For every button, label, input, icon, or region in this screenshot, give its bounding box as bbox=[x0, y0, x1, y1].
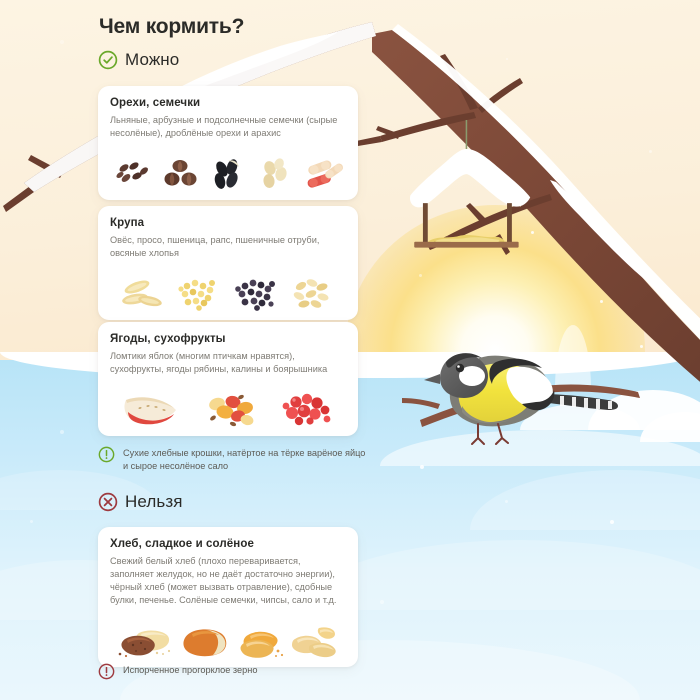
note-forbidden-text: Испорченное прогорклое зерно bbox=[123, 663, 257, 677]
sunflower-seeds-icon bbox=[208, 158, 248, 192]
feeder-roof-snow bbox=[410, 149, 530, 207]
note-forbidden-extra: Испорченное прогорклое зерно bbox=[98, 663, 257, 680]
page-title: Чем кормить? bbox=[99, 15, 244, 39]
great-tit-bird bbox=[432, 332, 652, 467]
infographic-stage: Чем кормить? Можно Орехи, семечки Льняны… bbox=[0, 0, 700, 700]
dried-fruits-icon bbox=[203, 392, 259, 428]
feeder-post-right bbox=[507, 203, 512, 246]
bird-tail-stripe-4 bbox=[596, 399, 600, 409]
card-nuts-text: Льняные, арбузные и подсолнечные семечки… bbox=[110, 114, 346, 140]
card-nuts-title: Орехи, семечки bbox=[110, 97, 346, 109]
card-grain-title: Крупа bbox=[110, 217, 346, 229]
bread-loaf-icon bbox=[178, 625, 230, 659]
card-berries-text: Ломтики яблок (многим птичкам нравятся),… bbox=[110, 350, 346, 376]
cracked-nuts-icon bbox=[161, 158, 201, 192]
card-berries-title: Ягоды, сухофрукты bbox=[110, 333, 346, 345]
cross-circle-icon bbox=[98, 492, 118, 512]
bird-tail-stripe-5 bbox=[608, 401, 612, 409]
card-grain-icon-row bbox=[110, 266, 346, 312]
content-column: Чем кормить? Можно Орехи, семечки Льняны… bbox=[0, 0, 370, 700]
feeder-floor bbox=[414, 242, 518, 248]
card-bread-title: Хлеб, сладкое и солёное bbox=[110, 538, 346, 550]
rowan-berries-icon bbox=[280, 392, 336, 428]
note-allowed-text: Сухие хлебные крошки, натёртое на тёрке … bbox=[123, 446, 370, 474]
apple-slice-icon bbox=[120, 392, 182, 428]
section-label-forbidden: Нельзя bbox=[125, 492, 183, 512]
bird-tail-stripe-2 bbox=[572, 397, 576, 407]
bird-leg-front bbox=[472, 424, 484, 444]
section-label-allowed: Можно bbox=[125, 50, 179, 70]
card-grain-text: Овёс, просо, пшеница, рапс, пшеничные от… bbox=[110, 234, 346, 260]
rapeseed-icon bbox=[233, 276, 279, 312]
cookies-icon bbox=[236, 625, 284, 659]
card-bread: Хлеб, сладкое и солёное Свежий белый хле… bbox=[98, 527, 358, 667]
bread-slices-icon bbox=[117, 625, 173, 659]
bird-eye bbox=[456, 364, 464, 372]
section-header-allowed: Можно bbox=[98, 50, 179, 70]
check-circle-icon bbox=[98, 50, 118, 70]
feeder-post-left bbox=[423, 203, 428, 246]
card-berries-icon-row bbox=[110, 382, 346, 428]
wheat-grains-icon bbox=[290, 276, 336, 312]
millet-icon bbox=[177, 276, 221, 312]
flax-seeds-icon bbox=[114, 158, 154, 192]
exclamation-circle-green-icon bbox=[98, 446, 115, 463]
exclamation-circle-red-icon bbox=[98, 663, 115, 680]
peanuts-icon bbox=[302, 158, 342, 192]
oat-grains-icon bbox=[120, 276, 166, 312]
section-header-forbidden: Нельзя bbox=[98, 492, 183, 512]
bird-eye-highlight bbox=[457, 365, 460, 368]
chips-icon bbox=[289, 625, 339, 659]
card-berries: Ягоды, сухофрукты Ломтики яблок (многим … bbox=[98, 322, 358, 436]
bird-feeder bbox=[404, 120, 554, 265]
card-bread-icon-row bbox=[110, 613, 346, 659]
bird-tail-stripe-3 bbox=[584, 398, 588, 408]
note-allowed-extra: Сухие хлебные крошки, натёртое на тёрке … bbox=[98, 446, 370, 474]
card-bread-text: Свежий белый хлеб (плохо переваривается,… bbox=[110, 555, 346, 607]
watermelon-seeds-icon bbox=[255, 158, 295, 192]
bird-leg-back bbox=[496, 424, 508, 444]
card-grain: Крупа Овёс, просо, пшеница, рапс, пшенич… bbox=[98, 206, 358, 320]
bird-tail-stripe-1 bbox=[560, 396, 564, 406]
card-nuts-icon-row bbox=[110, 146, 346, 192]
card-nuts: Орехи, семечки Льняные, арбузные и подсо… bbox=[98, 86, 358, 200]
